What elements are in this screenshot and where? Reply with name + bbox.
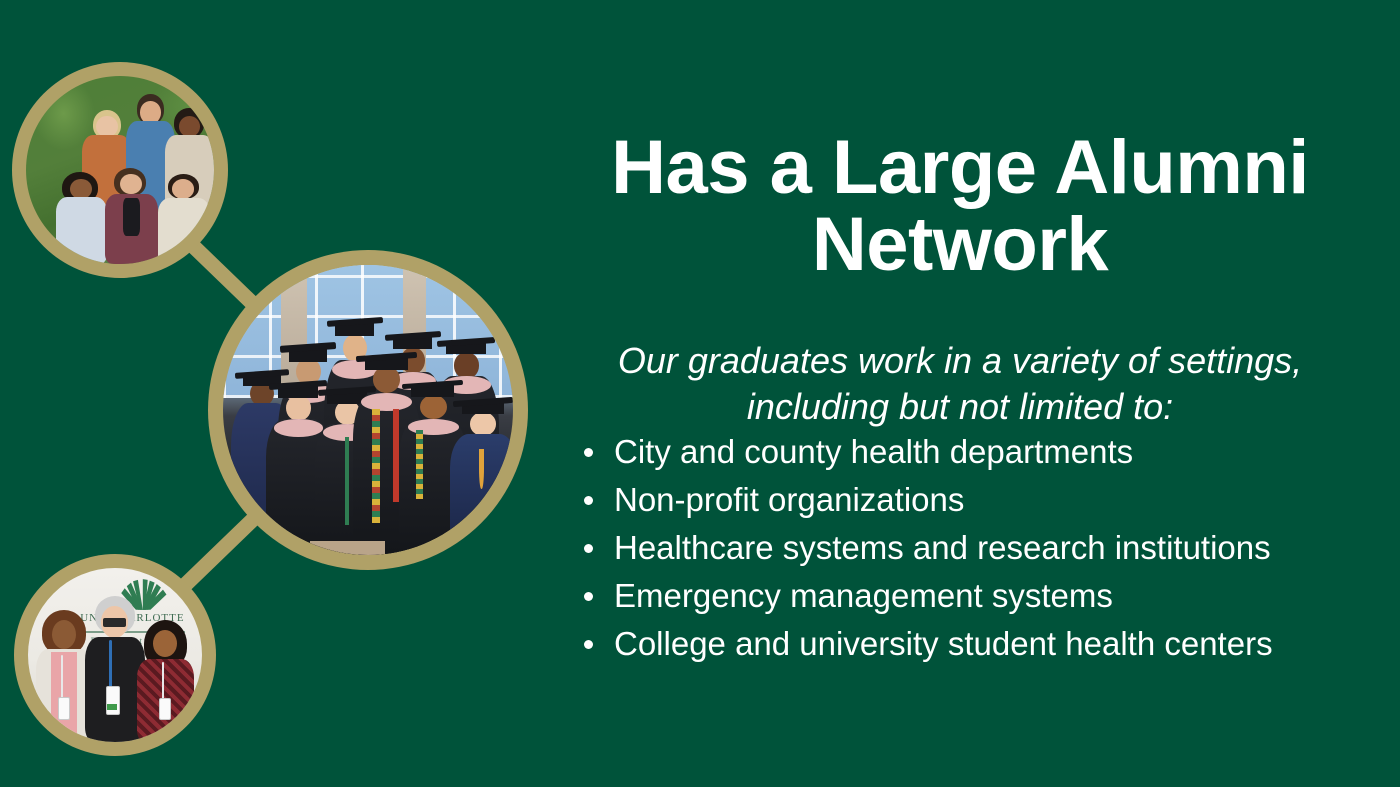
photo-conference-banner: UNC CHARLOTTE Department of (28, 568, 202, 742)
list-item: Emergency management systems (572, 572, 1382, 620)
photo-circle-graduation-group (208, 250, 528, 570)
slide-title: Has a Large Alumni Network (540, 129, 1380, 284)
photo-cluster: UNC CHARLOTTE Department of (0, 0, 560, 787)
list-item-label: College and university student health ce… (614, 625, 1273, 662)
photo-graduation-group (223, 265, 513, 555)
photo-circle-students-outdoors (12, 62, 228, 278)
list-item-label: Emergency management systems (614, 577, 1113, 614)
list-item: Healthcare systems and research institut… (572, 524, 1382, 572)
list-item-label: Healthcare systems and research institut… (614, 529, 1271, 566)
list-item: City and county health departments (572, 428, 1382, 476)
bullet-dot-icon (584, 640, 593, 649)
list-item: Non-profit organizations (572, 476, 1382, 524)
photo-students-outdoors (26, 76, 214, 264)
bullet-dot-icon (584, 496, 593, 505)
bullet-dot-icon (584, 448, 593, 457)
slide-canvas: UNC CHARLOTTE Department of (0, 0, 1400, 787)
list-item-label: City and county health departments (614, 433, 1133, 470)
bullet-dot-icon (584, 592, 593, 601)
settings-list: City and county health departments Non-p… (572, 428, 1382, 668)
photo-circle-conference-banner: UNC CHARLOTTE Department of (14, 554, 216, 756)
content-column: Has a Large Alumni Network Our graduates… (540, 0, 1380, 787)
slide-subtitle: Our graduates work in a variety of setti… (550, 338, 1370, 430)
list-item-label: Non-profit organizations (614, 481, 964, 518)
bullet-dot-icon (584, 544, 593, 553)
list-item: College and university student health ce… (572, 620, 1382, 668)
